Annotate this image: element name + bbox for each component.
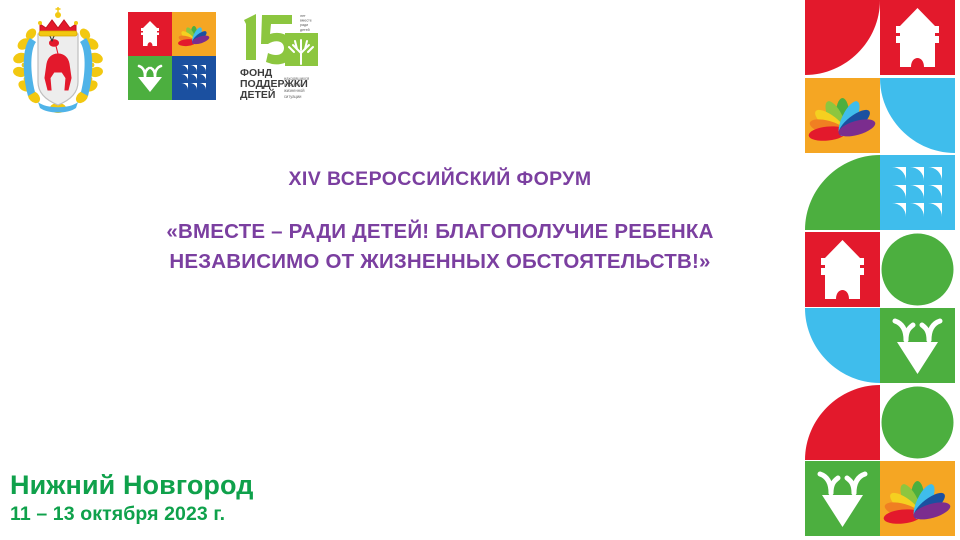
brand-cell-kremlin	[128, 12, 172, 56]
title-block: XIV ВСЕРОССИЙСКИЙ ФОРУМ «ВМЕСТЕ – РАДИ Д…	[90, 168, 790, 276]
forum-title: XIV ВСЕРОССИЙСКИЙ ФОРУМ	[90, 168, 790, 191]
brand-cell-fan	[172, 12, 216, 56]
fund-support-children-logo: лет вместе ради детей ФОНД ПОДДЕРЖКИ ДЕТ…	[238, 8, 330, 104]
decorative-tile-column	[805, 0, 955, 540]
forum-theme: «ВМЕСТЕ – РАДИ ДЕТЕЙ! БЛАГОПОЛУЧИЕ РЕБЕН…	[90, 217, 790, 275]
svg-text:лет: лет	[300, 14, 306, 18]
svg-text:ДЕТЕЙ: ДЕТЕЙ	[240, 88, 275, 101]
rainbow-fan-icon	[178, 21, 210, 47]
forum-theme-line-2: НЕЗАВИСИМО ОТ ЖИЗНЕННЫХ ОБСТОЯТЕЛЬСТВ!»	[90, 247, 790, 276]
dates-label: 11 – 13 октября 2023 г.	[10, 503, 254, 526]
svg-text:вместе: вместе	[300, 19, 312, 23]
coat-of-arms-logo	[8, 4, 108, 122]
svg-text:ситуации: ситуации	[284, 94, 301, 99]
svg-text:в трудной: в трудной	[284, 82, 303, 87]
brand-cell-deer	[128, 56, 172, 100]
svg-text:детей: детей	[300, 28, 310, 32]
footer-block: Нижний Новгород 11 – 13 октября 2023 г.	[10, 470, 254, 526]
brick-wall-icon	[180, 64, 208, 92]
presentation-slide: лет вместе ради детей ФОНД ПОДДЕРЖКИ ДЕТ…	[0, 0, 960, 540]
kremlin-tower-icon	[135, 19, 165, 49]
deer-antlers-icon	[134, 63, 166, 93]
svg-text:находящихся: находящихся	[284, 76, 309, 81]
nizhny-novgorod-brand-logo	[128, 12, 216, 100]
svg-text:ради: ради	[300, 23, 308, 27]
logo-row: лет вместе ради детей ФОНД ПОДДЕРЖКИ ДЕТ…	[0, 0, 800, 130]
svg-text:жизненной: жизненной	[284, 88, 305, 93]
forum-theme-line-1: «ВМЕСТЕ – РАДИ ДЕТЕЙ! БЛАГОПОЛУЧИЕ РЕБЕН…	[90, 217, 790, 246]
brand-cell-wall	[172, 56, 216, 100]
city-label: Нижний Новгород	[10, 470, 254, 500]
